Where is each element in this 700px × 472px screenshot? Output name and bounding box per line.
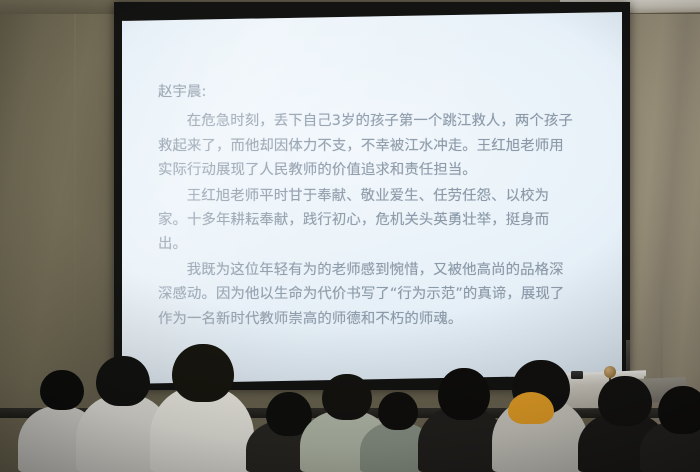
person-3-torso — [150, 386, 254, 472]
slide-paragraph-3: 我既为这位年轻有为的老师感到惋惜，又被他高尚的品格深深感动。因为他以生命为代价书… — [158, 258, 578, 331]
person-6-torso — [360, 422, 434, 472]
slide-content: 赵宇晨: 在危急时刻，丢下自己3岁的孩子第一个跳江救人，两个孩子救起来了，而他却… — [158, 80, 578, 332]
podium-body — [548, 373, 644, 410]
round-object-icon — [604, 366, 616, 378]
person-5-torso — [300, 410, 392, 472]
dark-device-icon — [571, 371, 583, 379]
desk-rail — [0, 408, 700, 418]
slide-speaker-label: 赵宇晨: — [158, 80, 578, 104]
podium-side-panel — [636, 377, 686, 403]
slide-paragraph-2: 王红旭老师平时甘于奉献、敬业爱生、任劳任怨、以校为家。十多年耕耘奉献，践行初心，… — [158, 184, 578, 257]
lecture-hall-scene: 赵宇晨: 在危急时刻，丢下自己3岁的孩子第一个跳江救人，两个孩子救起来了，而他却… — [0, 0, 700, 472]
wall-left — [0, 0, 130, 472]
slide-paragraph-1: 在危急时刻，丢下自己3岁的孩子第一个跳江救人，两个孩子救起来了，而他却因体力不支… — [158, 109, 578, 182]
person-4-torso — [246, 420, 330, 472]
